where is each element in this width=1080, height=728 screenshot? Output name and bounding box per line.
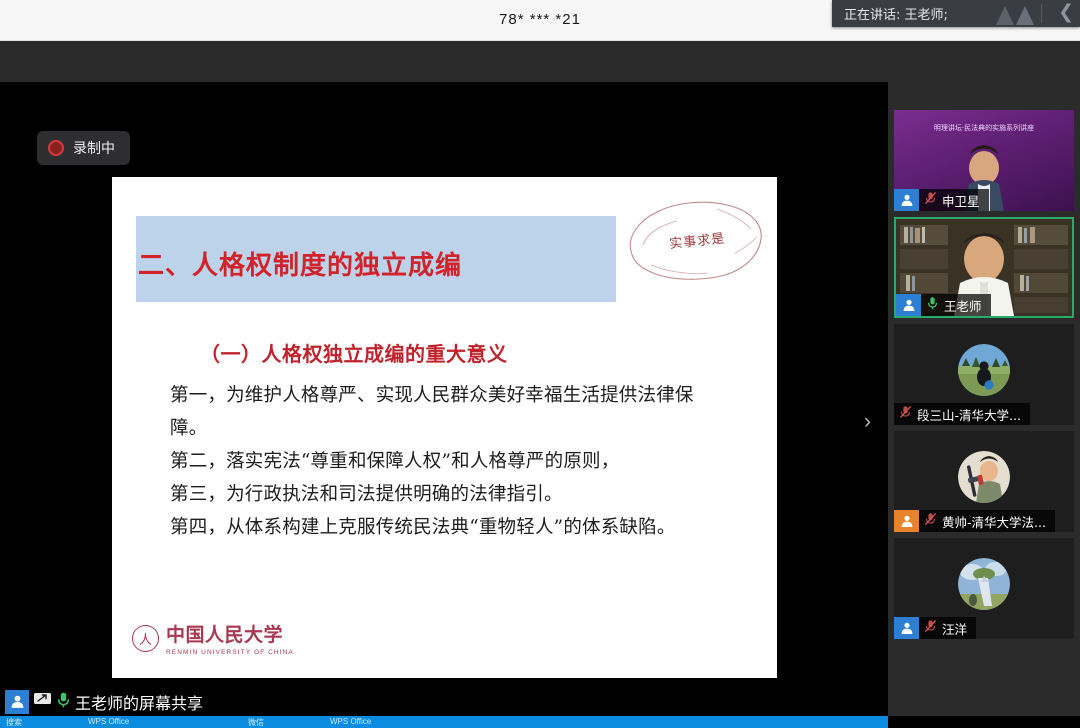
person-icon [896,294,921,316]
slide-body: 第一，为维护人格尊严、实现人民群众美好幸福生活提供法律保 障。 第二，落实宪法“… [170,379,750,544]
participant-name: 黄帅-清华大学法... [942,512,1046,531]
avatar [958,451,1010,503]
mic-muted-icon [924,512,937,531]
participant-name-strip: 汪洋 [919,617,976,639]
slide-body-line: 第二，落实宪法“尊重和保障人权”和人格尊严的原则， [170,445,750,478]
record-dot-icon [48,140,64,156]
share-status-label: 王老师的屏幕共享 [75,690,203,714]
logo-seal-glyph: 人 [139,629,152,648]
avatar [958,558,1010,610]
taskbar-right-filler [888,716,1080,728]
person-icon [894,617,919,639]
participant-tile[interactable]: 明理讲坛·民法典的实施系列讲座 申卫星 [894,110,1074,211]
recording-label: 录制中 [73,138,115,158]
logo-seal-icon: 人 [132,625,159,652]
slide-body-line: 第一，为维护人格尊严、实现人民群众美好幸福生活提供法律保 [170,379,750,412]
participant-tile[interactable]: 段三山-清华大学... [894,324,1074,425]
rail-filler [888,676,1080,716]
person-icon [894,510,919,532]
participant-name-strip: 申卫星 [919,189,989,211]
participant-tile[interactable]: 黄帅-清华大学法... [894,431,1074,532]
participant-name: 段三山-清华大学... [917,405,1021,424]
slide-body-line: 障。 [170,412,750,445]
share-icons [33,691,71,713]
recording-indicator[interactable]: 录制中 [37,131,130,165]
mic-muted-icon [924,191,937,210]
participant-name-strip: 段三山-清华大学... [894,403,1030,425]
logo-name-cn: 中国人民大学 [166,620,294,647]
overlay-divider [1041,4,1042,23]
taskbar-item[interactable]: WPS Office [330,717,371,726]
stone-seal-decoration: 实事求是 [621,195,769,287]
avatar [958,344,1010,396]
participant-name-strip: 黄帅-清华大学法... [919,510,1055,532]
mic-muted-icon [924,619,937,638]
participant-badge-row: 黄帅-清华大学法... [894,510,1055,532]
participant-tile[interactable]: 王老师 [894,217,1074,318]
participant-badge-row: 申卫星 [894,189,989,211]
participant-name-strip: 王老师 [921,294,991,316]
person-icon [5,690,29,714]
taskbar-item[interactable]: WPS Office [88,717,129,726]
participant-badge-row: 王老师 [896,294,991,316]
slide-body-line: 第三，为行政执法和司法提供明确的法律指引。 [170,478,750,511]
university-logo: 人 中国人民大学 RENMIN UNIVERSITY OF CHINA [132,620,294,656]
next-slide-chevron-icon[interactable]: › [864,415,871,429]
participant-rail: 明理讲坛·民法典的实施系列讲座 申卫星 [888,41,1080,728]
speaking-notification-text: 正在讲话: 王老师; [844,4,948,23]
share-status-bar[interactable]: 王老师的屏幕共享 [0,687,888,716]
participant-badge-row: 汪洋 [894,617,976,639]
taskbar-item[interactable]: 搜索 [6,717,22,728]
screen-share-viewport: 录制中 二、人格权制度的独立成编 实事求是 （一）人格权独立成编的重大意义 第一… [0,41,888,687]
audio-wave-icon [996,2,1034,25]
screen-share-icon [33,691,53,713]
svg-text:明理讲坛·民法典的实施系列讲座: 明理讲坛·民法典的实施系列讲座 [934,123,1034,132]
participant-badge-row: 段三山-清华大学... [894,403,1030,425]
logo-name-en: RENMIN UNIVERSITY OF CHINA [166,649,294,656]
presentation-slide: 二、人格权制度的独立成编 实事求是 （一）人格权独立成编的重大意义 第一，为维护… [112,177,777,678]
mic-on-icon [926,296,939,315]
mic-on-icon [56,691,71,713]
slide-title: 二、人格权制度的独立成编 [138,245,608,282]
participant-name: 申卫星 [942,191,980,210]
taskbar-item[interactable]: 微信 [248,717,264,728]
chevron-up-icon[interactable]: ❮ [1058,3,1074,23]
person-icon [894,189,919,211]
speaking-notification[interactable]: 正在讲话: 王老师; ❮ [832,0,1080,27]
participant-name: 汪洋 [942,619,967,638]
participant-name: 王老师 [944,296,982,315]
app-root: 78* *** *21 正在讲话: 王老师; ❮ 录制中 二、人格权制度的独立成… [0,0,1080,728]
slide-section-heading: （一）人格权独立成编的重大意义 [200,338,508,367]
slide-body-line: 第四，从体系构建上克服传统民法典“重物轻人”的体系缺陷。 [170,511,750,544]
mic-muted-icon [899,405,912,424]
participant-tile[interactable]: 汪洋 [894,538,1074,639]
